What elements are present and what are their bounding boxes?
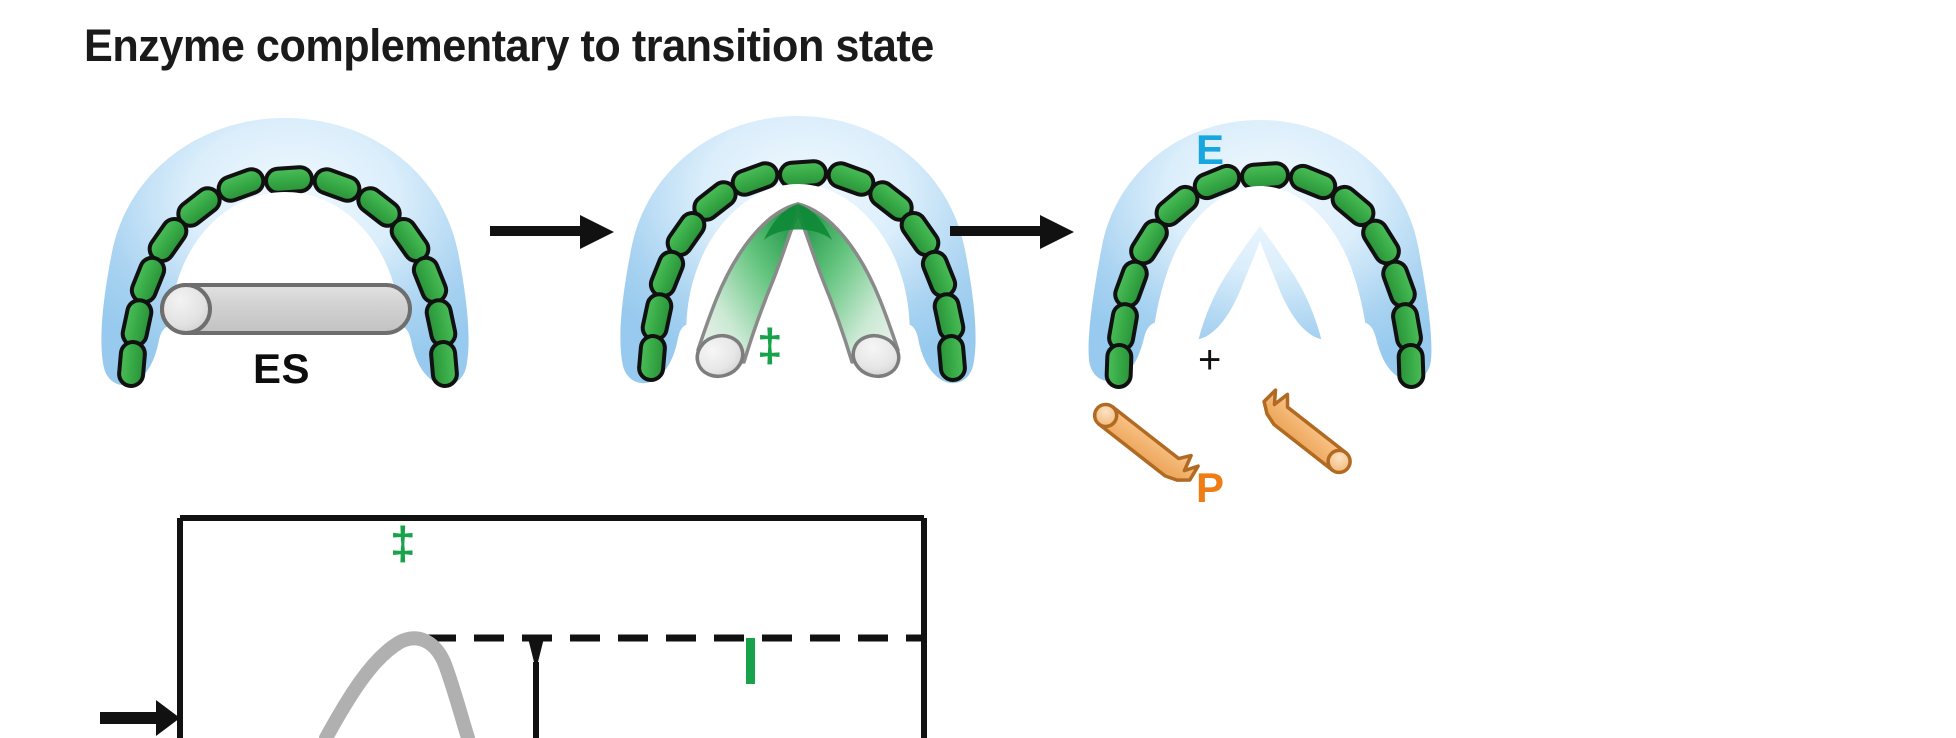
figure-canvas: Enzyme complementary to transition state	[0, 0, 1956, 738]
substrate-rod	[162, 285, 410, 333]
products-fragments	[1070, 390, 1400, 510]
product-fragment-left	[1090, 392, 1202, 489]
label-products: P	[1196, 464, 1225, 512]
label-free-enzyme: E	[1196, 126, 1225, 174]
panel-transition-state-complex	[598, 100, 998, 400]
left-edge-arrow	[100, 700, 180, 736]
energy-diagram-chart	[176, 512, 928, 738]
reaction-coordinate-curve	[326, 638, 468, 738]
panel-free-enzyme	[1060, 100, 1460, 400]
label-es: ES	[253, 345, 310, 393]
transition-state-dagger-icon: ‡	[757, 322, 783, 368]
product-fragment-right	[1257, 386, 1361, 477]
label-plus-sign: +	[1198, 338, 1221, 383]
green-level-tick	[746, 638, 755, 684]
page-title: Enzyme complementary to transition state	[84, 18, 934, 74]
arrow-transition-to-products	[948, 205, 1078, 260]
energy-diagram-dagger-icon: ‡	[390, 520, 416, 566]
